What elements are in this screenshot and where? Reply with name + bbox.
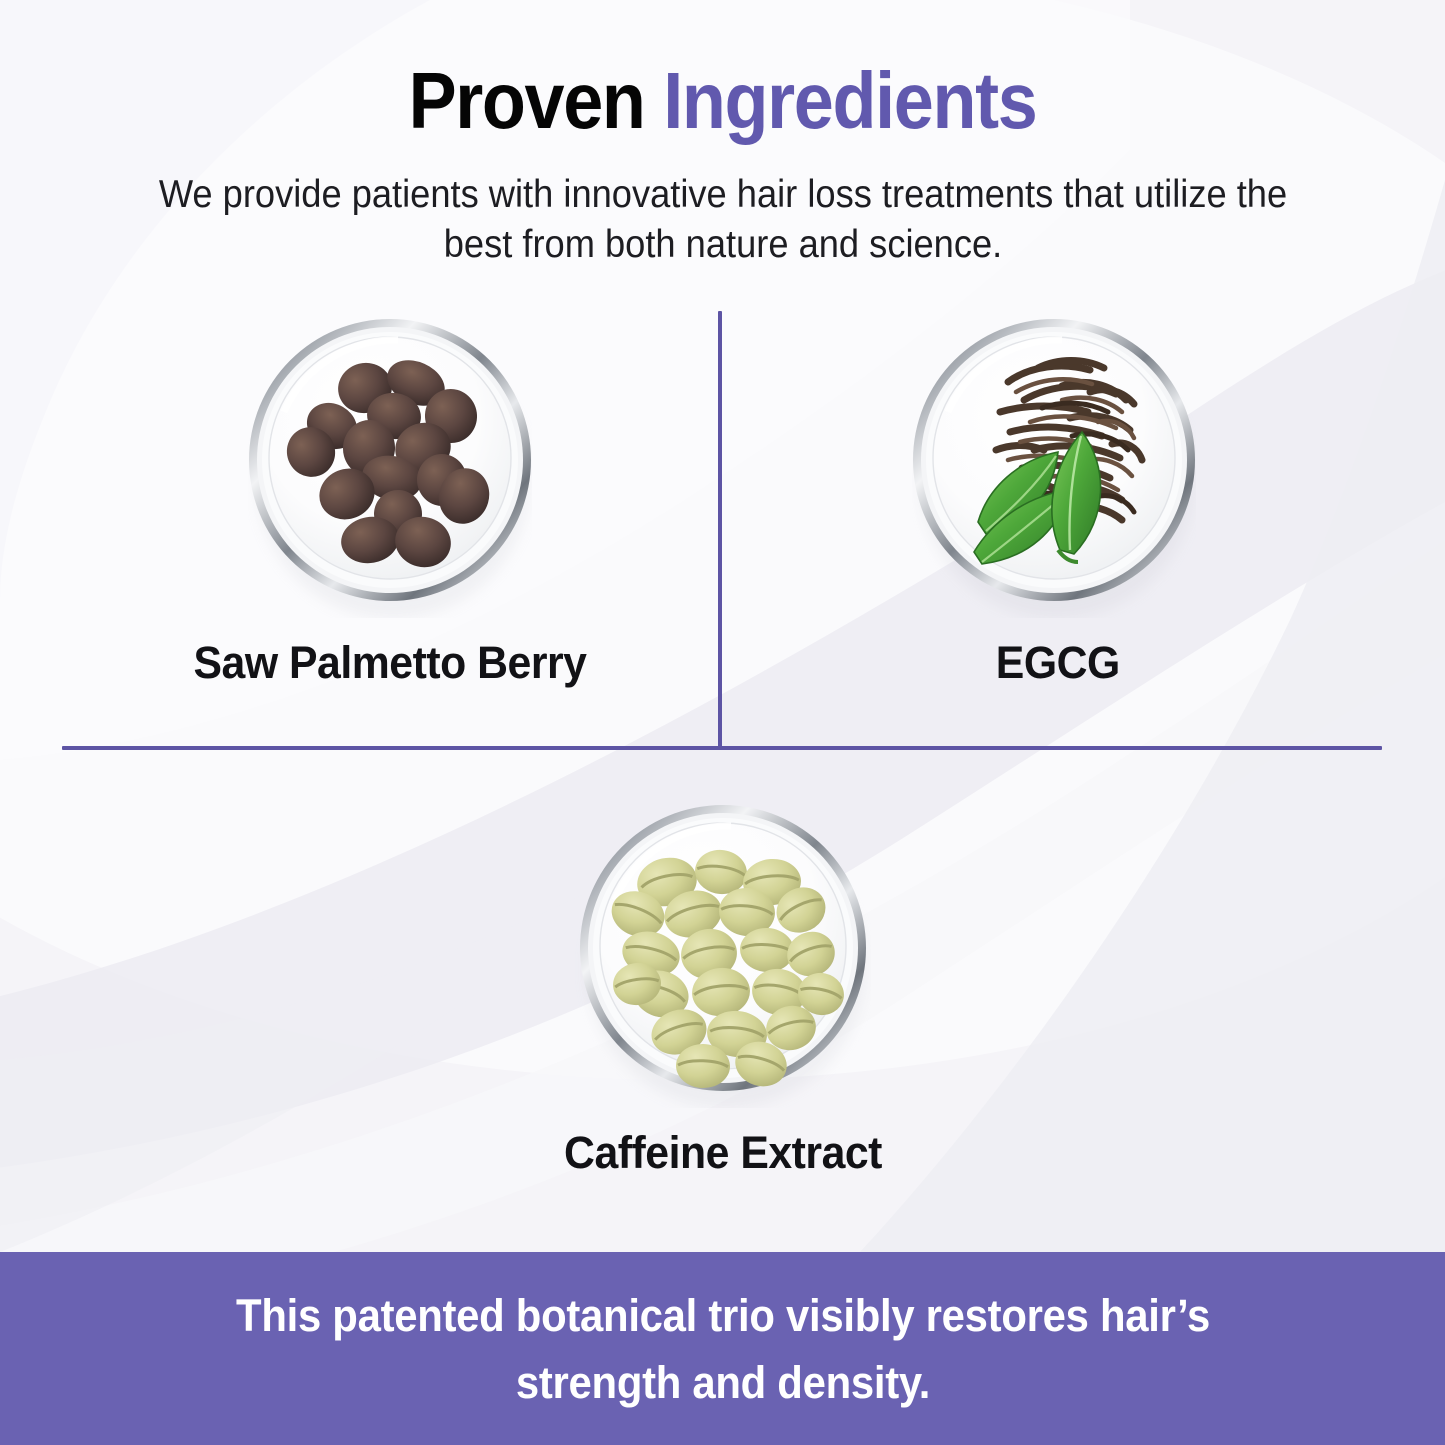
ingredient-label-egcg: EGCG — [726, 618, 1349, 690]
ingredients-infographic: Proven Ingredients We provide patients w… — [0, 0, 1445, 1445]
petri-dish-caffeine — [575, 788, 871, 1108]
page-title-word-proven: Proven — [409, 56, 645, 145]
petri-dish-egcg — [912, 300, 1196, 618]
bottom-claim-text: This patented botanical trio visibly res… — [174, 1282, 1271, 1416]
dish-wrap — [62, 300, 718, 618]
dish-wrap — [726, 300, 1382, 618]
divider-vertical — [718, 311, 722, 748]
ingredient-card-saw-palmetto-berry: Saw Palmetto Berry — [62, 300, 718, 690]
saw-palmetto-berries-icon — [248, 300, 532, 618]
ingredient-card-caffeine-extract: Caffeine Extract — [380, 788, 1066, 1180]
ingredient-label-saw-palmetto-berry: Saw Palmetto Berry — [78, 618, 701, 690]
dish-wrap — [380, 788, 1066, 1108]
divider-horizontal — [62, 746, 1382, 750]
ingredient-label-caffeine-extract: Caffeine Extract — [397, 1108, 1049, 1180]
page-title: Proven Ingredients — [72, 0, 1373, 144]
page-title-word-ingredients: Ingredients — [663, 56, 1036, 145]
page-subtitle: We provide patients with innovative hair… — [137, 144, 1309, 270]
green-coffee-beans-icon — [575, 788, 871, 1108]
petri-dish-saw-palmetto — [248, 300, 532, 618]
header: Proven Ingredients We provide patients w… — [0, 0, 1445, 270]
bottom-claim-banner: This patented botanical trio visibly res… — [0, 1252, 1445, 1445]
ingredient-card-egcg: EGCG — [726, 300, 1382, 690]
green-tea-leaves-icon — [912, 300, 1196, 618]
